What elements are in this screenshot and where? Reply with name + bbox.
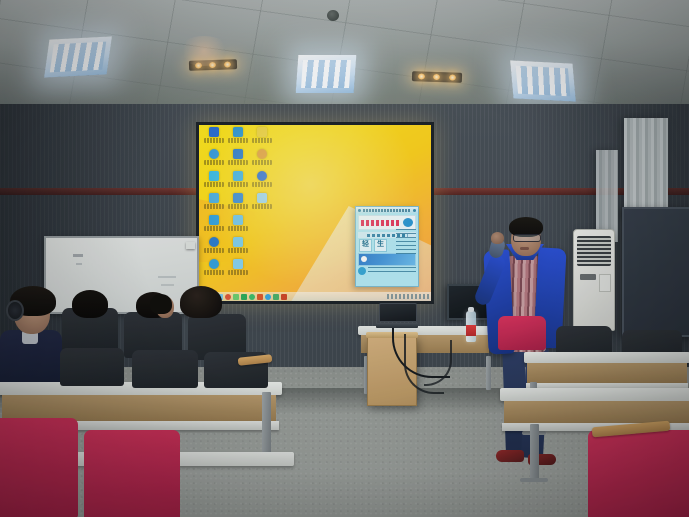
laptop-computer[interactable] bbox=[379, 303, 415, 328]
word-doc-icon[interactable] bbox=[226, 149, 249, 169]
icon-label bbox=[252, 182, 272, 187]
desk-leg-foot bbox=[520, 478, 548, 482]
media-player-icon[interactable] bbox=[202, 171, 225, 191]
panel-light-2 bbox=[296, 55, 357, 93]
desk-leg bbox=[530, 424, 539, 482]
popup-char-2: 生 bbox=[374, 239, 387, 252]
spot-lamp-icon bbox=[449, 74, 456, 80]
classroom-photo: 轻 生 bbox=[0, 0, 689, 517]
icon-label bbox=[228, 226, 248, 231]
seat-back bbox=[0, 418, 78, 517]
ceiling bbox=[0, 0, 689, 108]
shortcut-icon-glyph bbox=[209, 215, 219, 225]
smoke-detector-icon bbox=[327, 10, 339, 21]
blue-circle-icon[interactable] bbox=[265, 294, 271, 300]
folder-icon[interactable] bbox=[226, 171, 249, 191]
blank-slot-icon[interactable] bbox=[250, 215, 273, 235]
bottle-cap bbox=[468, 307, 473, 312]
green-circle-icon[interactable] bbox=[249, 294, 255, 300]
utility-icon[interactable] bbox=[226, 259, 249, 279]
ac-brand-label bbox=[580, 274, 597, 280]
seat-front-left-2[interactable] bbox=[84, 430, 180, 517]
whiteboard-marking bbox=[73, 254, 83, 257]
text-file-icon-glyph bbox=[257, 127, 267, 137]
window-curtain bbox=[624, 118, 668, 218]
whiteboard-marking bbox=[76, 263, 82, 265]
text-file-icon[interactable] bbox=[250, 127, 273, 147]
software-icon[interactable] bbox=[226, 215, 249, 235]
laptop-screen bbox=[379, 303, 417, 322]
utility-icon-glyph bbox=[233, 259, 243, 269]
icon-label bbox=[228, 204, 248, 209]
close-icon[interactable] bbox=[413, 209, 416, 212]
promo-face-icon bbox=[361, 256, 367, 262]
student-back-head-1 bbox=[72, 290, 108, 318]
popup-headline-text bbox=[361, 220, 401, 226]
spot-bar-right bbox=[412, 71, 462, 83]
globe-icon-glyph bbox=[257, 171, 267, 181]
popup-headline-banner bbox=[358, 215, 416, 230]
recycle-bin-icon-glyph bbox=[209, 127, 219, 137]
seat-back bbox=[498, 316, 546, 350]
blank-slot2-icon[interactable] bbox=[250, 237, 273, 257]
globe-icon[interactable] bbox=[250, 171, 273, 191]
tool-icon-glyph bbox=[233, 237, 243, 247]
desk-apron bbox=[527, 363, 686, 383]
archive-icon[interactable] bbox=[202, 193, 225, 213]
icon-label bbox=[252, 160, 272, 165]
projected-desktop[interactable]: 轻 生 bbox=[199, 125, 431, 301]
ac-grille-icon bbox=[577, 236, 611, 266]
seat-mid-left-1[interactable] bbox=[60, 348, 124, 386]
office-folder-icon[interactable] bbox=[226, 127, 249, 147]
popup-titlebar[interactable] bbox=[356, 207, 418, 213]
icon-label bbox=[252, 138, 272, 143]
icon-label bbox=[252, 204, 272, 209]
student-back-head-3 bbox=[180, 286, 222, 318]
qq-penguin-icon-glyph bbox=[257, 149, 267, 159]
archive-icon-glyph bbox=[209, 193, 219, 203]
popup-footer bbox=[358, 267, 416, 275]
ac-control-panel[interactable] bbox=[599, 274, 611, 292]
media-player-icon-glyph bbox=[209, 171, 219, 181]
icon-label bbox=[228, 270, 248, 275]
instructor-hand bbox=[491, 232, 504, 244]
popup-footer-text bbox=[368, 267, 416, 275]
desk-top-surface bbox=[500, 388, 689, 401]
panel-light-3 bbox=[510, 60, 576, 101]
bottle-label bbox=[466, 325, 476, 336]
shortcut-icon[interactable] bbox=[202, 215, 225, 235]
browser-icon-glyph bbox=[209, 149, 219, 159]
folder-icon-glyph bbox=[233, 171, 243, 181]
icon-label bbox=[204, 182, 224, 187]
chat-icon[interactable] bbox=[202, 259, 225, 279]
student-hair bbox=[150, 294, 172, 314]
document-icon-glyph bbox=[257, 193, 267, 203]
student-hair bbox=[180, 286, 222, 318]
icon-label bbox=[228, 138, 248, 143]
popup-badge-icon bbox=[403, 218, 413, 227]
advertisement-popup-window[interactable]: 轻 生 bbox=[355, 206, 419, 287]
paint-icon-glyph bbox=[209, 237, 219, 247]
setup-installer-icon-glyph bbox=[233, 193, 243, 203]
instructor-glasses bbox=[513, 234, 541, 242]
icon-label bbox=[204, 270, 224, 275]
popup-title bbox=[363, 209, 411, 212]
whiteboard-marking bbox=[161, 284, 174, 286]
seat-front-left-1[interactable] bbox=[0, 418, 78, 517]
home-icon[interactable] bbox=[257, 294, 263, 300]
word-doc-icon-glyph bbox=[233, 149, 243, 159]
icon-label bbox=[204, 138, 224, 143]
chat-icon-glyph bbox=[209, 259, 219, 269]
browser-icon[interactable] bbox=[202, 149, 225, 169]
popup-body-text bbox=[396, 229, 416, 255]
shield-icon[interactable] bbox=[233, 294, 239, 300]
student-hair bbox=[72, 290, 108, 318]
software-icon-glyph bbox=[233, 215, 243, 225]
spot-lamp-icon bbox=[418, 73, 425, 79]
panel-light-1 bbox=[44, 36, 112, 77]
blank-slot-icon-glyph bbox=[257, 215, 267, 225]
spot-lamp-icon bbox=[224, 61, 231, 67]
paint-icon[interactable] bbox=[202, 237, 225, 257]
popup-app-icon bbox=[358, 209, 361, 212]
powerpoint-icon[interactable] bbox=[281, 294, 287, 300]
setup-installer-icon[interactable] bbox=[226, 193, 249, 213]
player-icon[interactable] bbox=[241, 294, 247, 300]
download-icon[interactable] bbox=[273, 294, 279, 300]
seat-front-right-1[interactable] bbox=[588, 430, 689, 517]
spot-lamp-icon bbox=[433, 74, 440, 80]
instructor-mouth bbox=[520, 247, 529, 250]
recycle-bin-icon[interactable] bbox=[202, 127, 225, 147]
system-tray[interactable] bbox=[387, 294, 431, 299]
popup-char-1: 轻 bbox=[359, 239, 372, 252]
blank-slot2-icon-glyph bbox=[257, 237, 267, 247]
avatar bbox=[358, 267, 366, 275]
headphones-icon bbox=[6, 300, 24, 321]
icon-label bbox=[228, 182, 248, 187]
seat-back bbox=[60, 348, 124, 386]
blank-slot3-icon-glyph bbox=[257, 259, 267, 269]
browser-taskbar-icon[interactable] bbox=[225, 294, 231, 300]
desk-apron bbox=[504, 401, 689, 423]
seat-mid-left-2[interactable] bbox=[132, 350, 198, 388]
projection-screen[interactable]: 轻 生 bbox=[196, 122, 434, 304]
desk-top-surface bbox=[524, 352, 689, 363]
water-bottle bbox=[466, 311, 476, 342]
icon-label bbox=[204, 226, 224, 231]
office-folder-icon-glyph bbox=[233, 127, 243, 137]
whiteboard-marking bbox=[158, 276, 176, 278]
seat-back bbox=[588, 430, 689, 517]
desktop-icon-grid bbox=[202, 127, 273, 279]
icon-label bbox=[228, 160, 248, 165]
desktop-taskbar[interactable] bbox=[199, 292, 431, 301]
icon-label bbox=[228, 248, 248, 253]
instructor-shoe-left bbox=[496, 450, 524, 462]
seat-back bbox=[84, 430, 180, 517]
document-icon[interactable] bbox=[250, 193, 273, 213]
seat-row2-r1[interactable] bbox=[498, 316, 546, 350]
desk-leg bbox=[262, 392, 271, 456]
icon-label bbox=[204, 248, 224, 253]
wall-sign bbox=[186, 242, 195, 249]
student-profile-head bbox=[150, 294, 176, 318]
wall-display-board bbox=[622, 207, 689, 337]
qq-penguin-icon[interactable] bbox=[250, 149, 273, 169]
blank-slot3-icon[interactable] bbox=[250, 259, 273, 279]
icon-label bbox=[204, 160, 224, 165]
lens-glare bbox=[178, 36, 230, 66]
seat-back bbox=[132, 350, 198, 388]
icon-label bbox=[204, 204, 224, 209]
tool-icon[interactable] bbox=[226, 237, 249, 257]
